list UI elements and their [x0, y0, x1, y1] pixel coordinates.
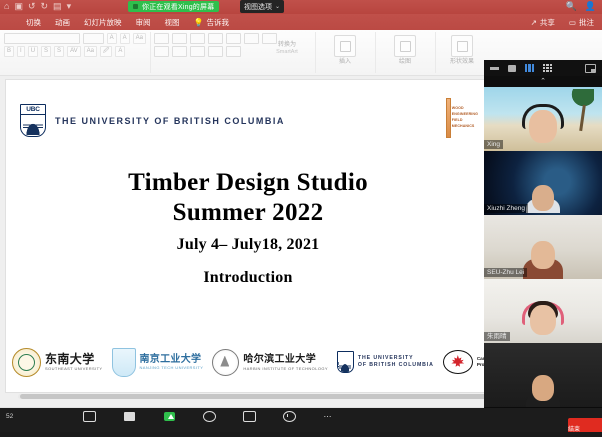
participants-button[interactable]: [80, 411, 98, 422]
slide-1[interactable]: UBC THE UNIVERSITY OF BRITISH COLUMBIA W…: [6, 80, 490, 392]
ribbon-group-draw: 绘图: [375, 32, 436, 73]
lightbulb-icon: 💡: [194, 18, 204, 27]
ubc-small-shield-icon: UBC: [337, 351, 354, 373]
participant-name: 朱雨晴: [484, 332, 510, 341]
ribbon-group-font: A A Aa B I U S S AV Aa 🖉 A: [0, 32, 151, 73]
meeting-controls: ⋯: [80, 411, 338, 422]
avatar: [532, 185, 554, 211]
southeast-university-seal-icon: [12, 348, 41, 377]
logo-ubc-small: UBC THE UNIVERSITY OF BRITISH COLUMBIA: [337, 351, 434, 373]
ubc-small-crest-icon: [339, 361, 351, 372]
hit-seal-icon: [212, 349, 239, 376]
end-meeting-button[interactable]: 结束: [568, 418, 602, 432]
participant-name: Xing: [484, 140, 503, 149]
insert-label: 插入: [324, 59, 366, 66]
align-center-button[interactable]: [172, 46, 187, 57]
horizontal-scrollbar[interactable]: [18, 394, 558, 399]
smartart-label-line1: 转换为: [266, 42, 308, 49]
badge-line-2: ENGINEERING: [452, 112, 478, 116]
font-family-combo[interactable]: [4, 33, 80, 44]
ribbon-group-arrange: 形状效果: [435, 32, 490, 73]
italic-button[interactable]: I: [17, 46, 25, 57]
start-slideshow-icon[interactable]: ▤: [53, 1, 62, 12]
more-icon: ⋯: [324, 412, 335, 421]
ubc-wordmark: THE UNIVERSITY OF BRITISH COLUMBIA: [55, 116, 285, 126]
clear-formatting-button[interactable]: Aa: [133, 33, 146, 44]
customize-qat-icon[interactable]: ▾: [67, 1, 72, 12]
logo-nanjing-tech-university: 南京工业大学 NANJING TECH UNIVERSITY: [112, 348, 204, 377]
avatar: [531, 241, 555, 269]
comments-button[interactable]: ▭ 批注: [569, 17, 594, 28]
slide-title-block[interactable]: Timber Design Studio Summer 2022 July 4–…: [6, 168, 490, 294]
participants-icon: [83, 411, 96, 422]
participant-tile-5[interactable]: [484, 343, 602, 407]
fullscreen-icon[interactable]: [585, 64, 596, 73]
hit-cn: 哈尔滨工业大学: [243, 353, 328, 366]
ubc-logo-lockup: UBC THE UNIVERSITY OF BRITISH COLUMBIA: [20, 104, 285, 137]
effects-icon: [451, 35, 473, 57]
title-line-4: Introduction: [6, 262, 490, 294]
title-line-2: Summer 2022: [6, 197, 490, 228]
logo-southeast-university: 东南大学 SOUTHEAST UNIVERSITY: [12, 348, 103, 377]
tab-view[interactable]: 视图: [165, 17, 180, 28]
reactions-icon: [243, 411, 256, 422]
tab-animations[interactable]: 动画: [55, 17, 70, 28]
tab-slideshow[interactable]: 幻灯片放映: [84, 17, 122, 28]
avatar: [529, 110, 557, 143]
bullets-button[interactable]: [154, 33, 169, 44]
underline-button[interactable]: U: [28, 46, 38, 57]
southeast-university-names: 东南大学 SOUTHEAST UNIVERSITY: [45, 353, 103, 372]
convert-to-smartart-button[interactable]: 转换为 SmartArt: [266, 40, 308, 55]
change-case-button[interactable]: Aa: [84, 46, 97, 57]
text-shadow-button[interactable]: S: [54, 46, 64, 57]
shape-effects-button[interactable]: 形状效果: [441, 35, 483, 66]
zoom-video-panel: ⌃ Xing Xiuzhi Zheng SEU-Zhu Lei 朱雨晴: [484, 60, 602, 408]
text-highlight-icon[interactable]: 🖉: [100, 46, 112, 57]
undo-icon[interactable]: ↺: [28, 1, 36, 12]
columns-button[interactable]: [226, 46, 241, 57]
meeting-control-bar: 52 ⋯ 结束: [0, 408, 602, 432]
grow-font-button[interactable]: A: [107, 33, 117, 44]
ribbon-group-insert-shape: 插入: [315, 32, 376, 73]
account-avatar-icon[interactable]: 👤: [585, 1, 596, 12]
screen-icon: [124, 412, 135, 421]
collapse-video-panel-button[interactable]: ⌃: [484, 76, 602, 87]
end-meeting-label: 结束: [568, 427, 580, 433]
share-icon: ↗: [531, 18, 537, 27]
ubc-small-line1: THE UNIVERSITY: [358, 355, 434, 362]
share-screen-button[interactable]: [160, 412, 178, 421]
avatar: [532, 375, 554, 401]
tab-transitions[interactable]: 切换: [26, 17, 41, 28]
align-left-button[interactable]: [154, 46, 169, 57]
save-icon[interactable]: ▣: [14, 1, 23, 12]
badge-line-4: MECHANICS: [452, 124, 478, 128]
title-line-3: July 4– July18, 2021: [6, 228, 490, 262]
screen-root: ⌂ ▣ ↺ ↻ ▤ ▾ 你正在观看Xing的屏幕 视图选项 ⌄ 🔍 👤: [0, 0, 602, 432]
active-speaker-view-icon[interactable]: [508, 65, 516, 72]
nanjing-tech-names: 南京工业大学 NANJING TECH UNIVERSITY: [140, 354, 204, 371]
southeast-university-en: SOUTHEAST UNIVERSITY: [45, 366, 103, 372]
nanjing-tech-cn: 南京工业大学: [140, 354, 204, 365]
ubc-small-line2: OF BRITISH COLUMBIA: [358, 362, 434, 369]
record-button[interactable]: [200, 411, 218, 422]
align-right-button[interactable]: [190, 46, 205, 57]
annotate-icon: [283, 411, 296, 422]
title-line-1: Timber Design Studio: [6, 168, 490, 197]
participant-tile-4[interactable]: 朱雨晴: [484, 279, 602, 343]
text-direction-button[interactable]: [244, 33, 259, 44]
reactions-button[interactable]: [240, 411, 258, 422]
chevron-up-icon: ⌃: [540, 78, 546, 85]
screen-share-banner: 你正在观看Xing的屏幕: [128, 1, 219, 12]
comments-label: 批注: [579, 17, 594, 28]
ubc-shield-icon: UBC: [20, 104, 46, 137]
speaker-view-icon[interactable]: [525, 64, 534, 72]
tab-tell-me[interactable]: 💡 告诉我: [194, 17, 229, 28]
draw-button[interactable]: 绘图: [384, 35, 426, 66]
ribbon-group-paragraph: 转换为 SmartArt: [150, 32, 316, 73]
participant-tile-3[interactable]: SEU-Zhu Lei: [484, 215, 602, 279]
badge-text-lines: WOOD ENGINEERING FIELD MECHANICS: [452, 98, 478, 136]
partner-logo-strip: 东南大学 SOUTHEAST UNIVERSITY 南京工业大学 NANJING…: [12, 342, 484, 382]
badge-line-3: FIELD: [452, 118, 478, 122]
screen-icon-button[interactable]: [120, 412, 138, 421]
badge-bar-icon: [446, 98, 451, 138]
draw-label: 绘图: [384, 59, 426, 66]
participant-tile-2[interactable]: Xiuzhi Zheng: [484, 151, 602, 215]
nanjing-tech-seal-icon: [112, 348, 136, 377]
smartart-label-line2: SmartArt: [266, 49, 308, 55]
arrange-label: 形状效果: [441, 59, 483, 66]
font-color-button[interactable]: A: [115, 46, 125, 57]
view-options-label: 视图选项: [244, 2, 272, 12]
page-indicator: 52: [6, 413, 13, 420]
ribbon-tabs: 切换 动画 幻灯片放映 审阅 视图 💡 告诉我: [26, 14, 229, 30]
font-size-combo[interactable]: [83, 33, 104, 44]
avatar: [530, 305, 556, 335]
window-right-actions: 🔍 👤: [566, 1, 596, 12]
numbering-button[interactable]: [172, 33, 187, 44]
logo-canada-wood: Canada Wood Produits de bois: [443, 350, 490, 374]
annotate-button[interactable]: [280, 411, 298, 422]
share-button[interactable]: ↗ 共享: [531, 17, 555, 28]
participant-tile-1[interactable]: Xing: [484, 87, 602, 151]
insert-shape-button[interactable]: 插入: [324, 35, 366, 66]
scrollbar-thumb[interactable]: [20, 394, 510, 399]
participant-name: SEU-Zhu Lei: [484, 268, 527, 277]
logo-harbin-institute-of-technology: 哈尔滨工业大学 HARBIN INSTITUTE OF TECHNOLOGY: [212, 349, 328, 376]
maple-leaf-shape: [451, 355, 465, 369]
share-label: 共享: [540, 17, 555, 28]
quick-access-toolbar: ⌂ ▣ ↺ ↻ ▤ ▾ 你正在观看Xing的屏幕 视图选项 ⌄ 🔍 👤: [0, 0, 602, 14]
more-button[interactable]: ⋯: [320, 412, 338, 421]
redo-icon[interactable]: ↻: [41, 1, 49, 12]
ribbon-tab-strip: 切换 动画 幻灯片放映 审阅 视图 💡 告诉我 ↗ 共享 ▭ 批注: [0, 14, 602, 30]
hit-en: HARBIN INSTITUTE OF TECHNOLOGY: [243, 366, 328, 372]
badge-line-1: WOOD: [452, 106, 478, 110]
strikethrough-button[interactable]: S: [41, 46, 51, 57]
wood-engineering-badge: WOOD ENGINEERING FIELD MECHANICS: [446, 98, 478, 136]
search-icon[interactable]: 🔍: [566, 1, 577, 12]
pen-icon: [394, 35, 416, 57]
video-panel-toolbar: [484, 60, 602, 76]
hit-names: 哈尔滨工业大学 HARBIN INSTITUTE OF TECHNOLOGY: [243, 353, 328, 372]
share-banner-text: 你正在观看Xing的屏幕: [142, 2, 214, 12]
participant-name: Xiuzhi Zheng: [484, 204, 528, 213]
page-indicator-group: 52: [6, 413, 13, 420]
southeast-university-cn: 东南大学: [45, 353, 103, 366]
quick-access-icon-group: ⌂ ▣ ↺ ↻ ▤ ▾: [4, 1, 71, 12]
nanjing-tech-en: NANJING TECH UNIVERSITY: [140, 365, 204, 371]
ubc-shield-text: UBC: [21, 105, 45, 115]
tab-review[interactable]: 审阅: [136, 17, 151, 28]
ribbon-right-actions: ↗ 共享 ▭ 批注: [531, 14, 594, 30]
record-icon: [203, 411, 216, 422]
canada-wood-maple-leaf-icon: [443, 350, 473, 374]
minimize-icon[interactable]: [490, 67, 499, 70]
ubc-small-wordmark: THE UNIVERSITY OF BRITISH COLUMBIA: [358, 355, 434, 369]
home-icon[interactable]: ⌂: [4, 1, 9, 12]
tell-me-label: 告诉我: [206, 17, 229, 28]
shrink-font-button[interactable]: A: [120, 33, 130, 44]
increase-indent-button[interactable]: [208, 33, 223, 44]
share-screen-icon: [164, 412, 175, 421]
decrease-indent-button[interactable]: [190, 33, 205, 44]
justify-button[interactable]: [208, 46, 223, 57]
ubc-crest-icon: [23, 118, 43, 135]
gallery-view-icon[interactable]: [543, 64, 552, 72]
line-spacing-button[interactable]: [226, 33, 241, 44]
character-spacing-button[interactable]: AV: [67, 46, 81, 57]
bold-button[interactable]: B: [4, 46, 14, 57]
shape-icon: [334, 35, 356, 57]
view-options-button[interactable]: 视图选项 ⌄: [240, 0, 284, 13]
chevron-down-icon: ⌄: [275, 3, 280, 10]
comment-icon: ▭: [569, 18, 576, 27]
share-indicator-icon: [133, 4, 138, 9]
